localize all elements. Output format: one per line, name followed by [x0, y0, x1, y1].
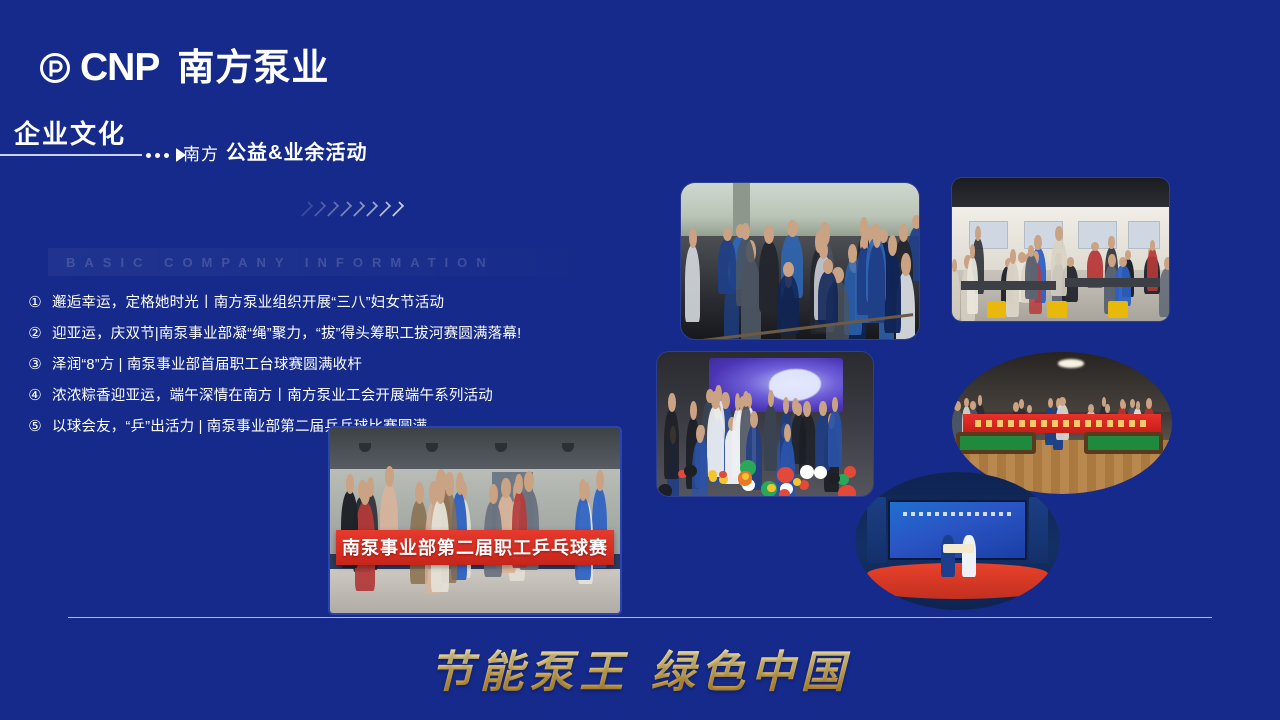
list-item-number: ② [26, 323, 44, 344]
photo-balloon-event[interactable] [657, 352, 873, 496]
person-silhouette [818, 271, 838, 326]
chevron-right-icon [300, 196, 311, 222]
person-head [1019, 399, 1024, 409]
photo-pingpong-group[interactable]: 南泵事业部第二届职工乒乓球赛 [330, 428, 620, 613]
balloon [779, 489, 790, 496]
pingpong-banner-text: 南泵事业部第二届职工乒乓球赛 [342, 534, 608, 560]
list-item[interactable]: ①邂逅幸运，定格她时光丨南方泵业组织开展“三八”妇女节活动 [26, 292, 646, 314]
title-arrow-group [146, 148, 186, 162]
photo-award-ceremony[interactable] [855, 472, 1060, 610]
person-head [1013, 402, 1019, 412]
subtitle-prefix: 南方 [183, 140, 219, 165]
person-head [912, 215, 919, 229]
person-head [456, 472, 464, 495]
photo-cafeteria[interactable] [952, 178, 1169, 321]
person-head [385, 466, 394, 487]
person-silhouette [759, 241, 779, 312]
person-head [819, 401, 827, 416]
cnp-circle-p-logo-icon [40, 53, 70, 83]
person-head [783, 262, 794, 277]
person-head [823, 259, 833, 273]
billiards-banner-text [963, 414, 1161, 432]
list-item-label: 泽润“8”方 | 南泵事业部首届职工台球赛圆满收杆 [52, 355, 362, 376]
chevron-right-icon [313, 196, 324, 222]
person-head [689, 228, 697, 248]
person-silhouette [707, 406, 724, 477]
person-silhouette [718, 239, 736, 294]
person-head [899, 224, 909, 242]
list-item[interactable]: ②迎亚运，庆双节|南泵事业部凝“绳”聚力，“拔”得头筹职工拔河赛圆满落幕! [26, 323, 646, 345]
person-silhouette [764, 404, 777, 471]
chevron-right-icon [352, 196, 363, 222]
balloon [658, 484, 672, 496]
person-silhouette [1159, 268, 1169, 318]
dot-icon [164, 153, 169, 158]
dot-icon [146, 153, 151, 158]
balloon [838, 485, 855, 496]
person-head [964, 398, 969, 407]
person-head [711, 391, 719, 409]
person-head [346, 474, 354, 494]
person-head [784, 424, 791, 442]
person-head [873, 227, 882, 248]
list-item-label: 邂逅幸运，定格她时光丨南方泵业组织开展“三八”妇女节活动 [52, 293, 444, 314]
person-silhouette [952, 270, 960, 320]
person-head [1067, 257, 1075, 267]
person-head [1150, 240, 1156, 251]
list-item-number: ③ [26, 354, 44, 375]
watermark-band: BASIC COMPANY INFORMATION [48, 248, 596, 276]
person-head [579, 479, 587, 500]
photo-tug-of-war[interactable] [681, 183, 919, 339]
person-head [690, 401, 697, 420]
person-head [489, 484, 498, 504]
balloon [814, 466, 827, 479]
person-silhouette [828, 410, 842, 467]
balloon [829, 473, 840, 484]
person-head [445, 472, 453, 496]
chevron-right-icon [339, 196, 350, 222]
list-item-number: ⑤ [26, 416, 44, 437]
person-head [1136, 401, 1140, 409]
person-head [1034, 235, 1041, 249]
list-item-label: 浓浓粽香迎亚运，端午深情在南方丨南方泵业工会开展端午系列活动 [52, 386, 493, 407]
person-head [1010, 249, 1016, 263]
person-head [1164, 257, 1169, 270]
brand-chinese-name: 南方泵业 [177, 49, 329, 86]
list-item-number: ① [26, 292, 44, 313]
person-silhouette [777, 275, 798, 334]
pingpong-banner: 南泵事业部第二届职工乒乓球赛 [336, 530, 614, 565]
person-head [1108, 254, 1115, 267]
person-silhouette [736, 238, 755, 306]
person-head [1130, 399, 1136, 408]
person-head [1108, 236, 1114, 250]
page-title: 企业文化 [14, 114, 126, 151]
person-silhouette [685, 245, 701, 323]
chevron-right-icon [365, 196, 376, 222]
chevron-right-icon [378, 196, 389, 222]
person-head [795, 403, 803, 416]
person-head [787, 220, 798, 237]
footer-divider [68, 617, 1212, 618]
person-head [861, 231, 868, 249]
person-head [952, 259, 957, 272]
balloon [777, 467, 793, 483]
person-head [764, 225, 774, 243]
person-silhouette [884, 252, 902, 333]
list-item[interactable]: ④浓浓粽香迎亚运，端午深情在南方丨南方泵业工会开展端午系列活动 [26, 385, 646, 407]
person-head [1120, 399, 1125, 409]
person-head [1146, 398, 1152, 409]
person-head [1088, 404, 1094, 413]
title-underline [0, 154, 142, 156]
person-head [515, 474, 523, 494]
list-item-number: ④ [26, 385, 44, 406]
slide-root: CNP 南方泵业 企业文化 南方 公益&业余活动 BASIC COMPANY I… [0, 0, 1280, 720]
person-head [501, 478, 511, 498]
person-head [596, 470, 604, 491]
person-head [723, 227, 732, 241]
chevron-right-icon [326, 196, 337, 222]
balloon [800, 465, 814, 478]
person-head [901, 253, 911, 276]
balloon [684, 465, 696, 477]
chevron-right-icon [391, 196, 402, 222]
person-head [970, 401, 976, 410]
person-head [978, 395, 983, 405]
person-head [415, 482, 424, 504]
list-item-label: 迎亚运，庆双节|南泵事业部凝“绳”聚力，“拔”得头筹职工拔河赛圆满落幕! [52, 324, 521, 345]
person-head [1027, 405, 1032, 413]
person-head [783, 397, 789, 414]
dot-icon [155, 153, 160, 158]
person-head [888, 235, 897, 256]
subtitle-title: 公益&业余活动 [226, 136, 367, 165]
watermark-text: BASIC COMPANY INFORMATION [48, 255, 495, 270]
list-item[interactable]: ③泽润“8”方 | 南泵事业部首届职工台球赛圆满收杆 [26, 354, 646, 376]
brand-latin-name: CNP [80, 48, 159, 87]
brand-logo: CNP 南方泵业 [40, 48, 329, 87]
person-head [954, 401, 960, 411]
person-head [1059, 397, 1065, 406]
person-silhouette [1025, 255, 1038, 299]
person-head [436, 480, 445, 504]
footer-slogan: 节能泵王 绿色中国 [0, 636, 1280, 700]
person-head [668, 393, 676, 411]
person-silhouette [664, 409, 679, 480]
person-silhouette [868, 244, 885, 323]
person-head [1105, 404, 1110, 414]
chevron-decoration [300, 196, 402, 222]
activity-list: ①邂逅幸运，定格她时光丨南方泵业组织开展“三八”妇女节活动②迎亚运，庆双节|南泵… [26, 292, 646, 447]
